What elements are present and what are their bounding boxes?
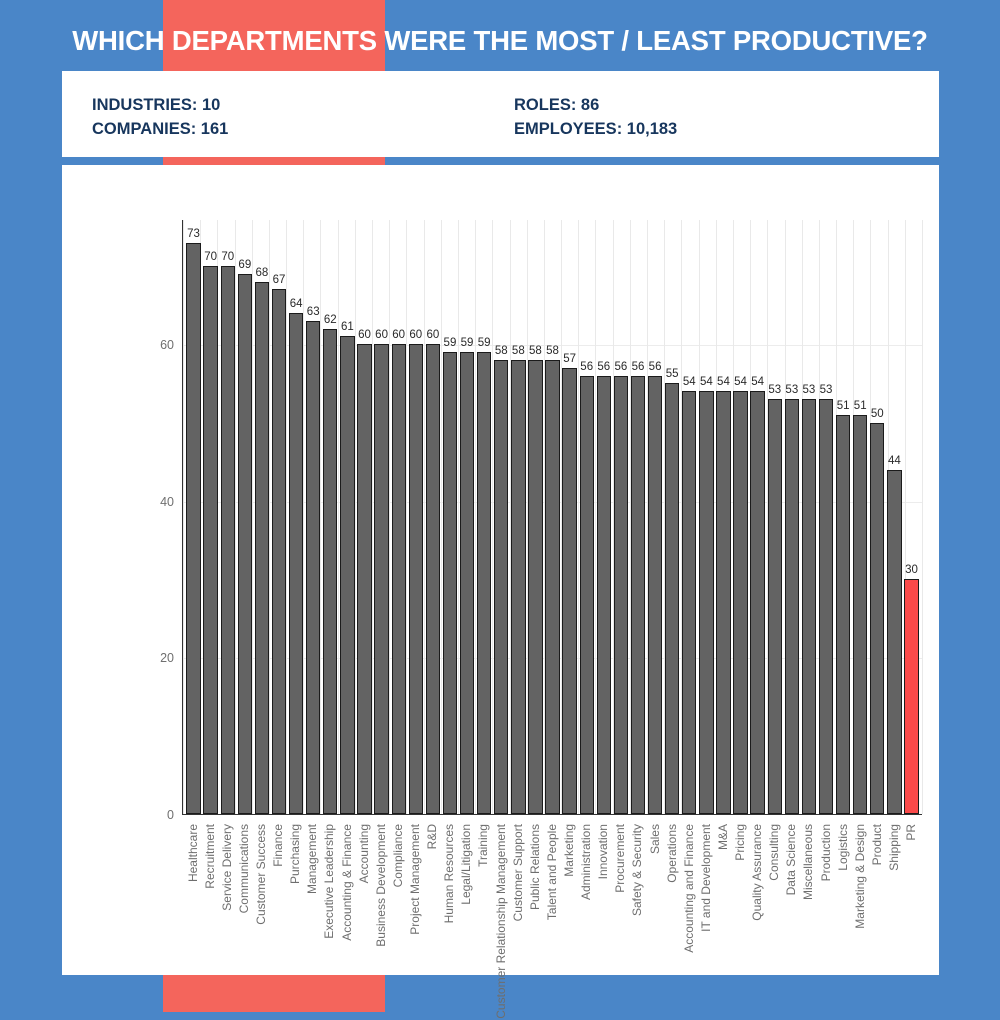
bar-value-label: 60	[409, 329, 422, 341]
bar[interactable]: 70	[221, 266, 235, 814]
x-axis-label-slot: M&A	[714, 820, 731, 1020]
title-bar: WHICH DEPARTMENTS WERE THE MOST / LEAST …	[0, 14, 1000, 68]
bar-item[interactable]: 67	[270, 220, 287, 814]
bar-item[interactable]: 56	[578, 220, 595, 814]
bar-item[interactable]: 63	[305, 220, 322, 814]
bar-item[interactable]: 62	[322, 220, 339, 814]
bar[interactable]: 53	[768, 399, 782, 814]
chart-panel: 0204060 73707069686764636261606060606059…	[62, 165, 939, 975]
x-axis-tick-label: Data Science	[784, 824, 798, 895]
x-axis-label-slot: Data Science	[783, 820, 800, 1020]
bar[interactable]: 60	[374, 344, 388, 814]
x-axis-label-slot: Public Relations	[526, 820, 543, 1020]
bar-value-label: 58	[495, 345, 508, 357]
bar[interactable]: 59	[443, 352, 457, 814]
bar[interactable]: 62	[323, 329, 337, 814]
x-axis-label-slot: Business Development	[372, 820, 389, 1020]
bar-item[interactable]: 53	[783, 220, 800, 814]
bar-value-label: 54	[700, 376, 713, 388]
bar-value-label: 56	[649, 361, 662, 373]
x-axis-tick-label: Training	[476, 824, 490, 867]
bar[interactable]: 73	[186, 243, 200, 815]
x-axis-tick-label: Consulting	[767, 824, 781, 881]
bar-value-label: 58	[546, 345, 559, 357]
bar[interactable]: 53	[819, 399, 833, 814]
bar-value-label: 60	[358, 329, 371, 341]
bar[interactable]: 54	[733, 391, 747, 814]
bar-item[interactable]: 54	[681, 220, 698, 814]
bar-item[interactable]: 60	[390, 220, 407, 814]
bar[interactable]: 58	[511, 360, 525, 814]
bar[interactable]: 69	[238, 274, 252, 814]
bar[interactable]: 50	[870, 423, 884, 814]
bar-item[interactable]: 64	[288, 220, 305, 814]
bar-value-label: 54	[734, 376, 747, 388]
stat-industries: INDUSTRIES: 10	[92, 93, 228, 117]
bar-value-label: 59	[461, 337, 474, 349]
bar-item[interactable]: 59	[459, 220, 476, 814]
x-axis-label-slot: Talent and People	[543, 820, 560, 1020]
bar-item[interactable]: 59	[441, 220, 458, 814]
x-axis-label-slot: Purchasing	[287, 820, 304, 1020]
bar[interactable]: 56	[597, 376, 611, 814]
y-axis-tick: 20	[160, 651, 174, 665]
bar-value-label: 64	[290, 298, 303, 310]
bar-item[interactable]: 58	[493, 220, 510, 814]
bar-value-label: 59	[444, 337, 457, 349]
bar-value-label: 70	[204, 251, 217, 263]
x-axis-tick-label: Shipping	[887, 824, 901, 871]
x-axis-tick-label: Business Development	[374, 824, 388, 947]
x-axis-tick-label: Customer Success	[254, 824, 268, 925]
bar[interactable]: 58	[528, 360, 542, 814]
x-axis-label-slot: Operations	[663, 820, 680, 1020]
bar[interactable]: 58	[494, 360, 508, 814]
x-axis-tick-label: Logistics	[836, 824, 850, 871]
x-axis-label-slot: R&D	[424, 820, 441, 1020]
x-axis-label-slot: Human Resources	[441, 820, 458, 1020]
bar[interactable]: 59	[477, 352, 491, 814]
bar-value-label: 60	[392, 329, 405, 341]
x-axis-tick-label: Innovation	[596, 824, 610, 879]
x-axis-label-slot: Executive Leadership	[321, 820, 338, 1020]
bar[interactable]: 57	[562, 368, 576, 814]
x-axis-label-slot: Miscellaneous	[800, 820, 817, 1020]
x-axis-tick-label: IT and Development	[699, 824, 713, 932]
bar-item[interactable]: 56	[629, 220, 646, 814]
x-axis-tick-label: Legal/Litigation	[459, 824, 473, 905]
x-axis-label-slot: Production	[817, 820, 834, 1020]
x-axis-label-slot: Accounting and Finance	[680, 820, 697, 1020]
bar-value-label: 62	[324, 314, 337, 326]
x-axis-tick-label: Executive Leadership	[322, 824, 336, 939]
bar[interactable]: 67	[272, 289, 286, 814]
bar-item[interactable]: 58	[527, 220, 544, 814]
x-axis-label-slot: Training	[475, 820, 492, 1020]
bar-value-label: 51	[837, 400, 850, 412]
x-axis-label-slot: Logistics	[834, 820, 851, 1020]
x-axis-tick-label: Finance	[271, 824, 285, 867]
x-axis-label-slot: Customer Relationship Management	[492, 820, 509, 1020]
bar-value-label: 55	[666, 368, 679, 380]
x-axis-label-slot: Innovation	[595, 820, 612, 1020]
bar-value-label: 50	[871, 408, 884, 420]
bar[interactable]: 54	[750, 391, 764, 814]
bar-item[interactable]: 53	[766, 220, 783, 814]
x-axis-tick-label: Product	[870, 824, 884, 865]
x-axis-tick-label: Accounting	[357, 824, 371, 883]
x-axis-label-slot: Customer Support	[509, 820, 526, 1020]
bar-value-label: 68	[256, 267, 269, 279]
x-axis-tick-label: Management	[305, 824, 319, 894]
bar[interactable]: 56	[631, 376, 645, 814]
x-axis-label-slot: Marketing	[560, 820, 577, 1020]
x-axis-label-slot: Communications	[235, 820, 252, 1020]
bar[interactable]: 61	[340, 336, 354, 814]
bar-item[interactable]: 51	[835, 220, 852, 814]
x-axis-label-slot: Quality Assurance	[749, 820, 766, 1020]
x-axis-tick-label: Communications	[237, 824, 251, 913]
x-axis-label-slot: Service Delivery	[218, 820, 235, 1020]
bar-value-label: 53	[820, 384, 833, 396]
bar-item[interactable]: 70	[202, 220, 219, 814]
bar-item[interactable]: 56	[612, 220, 629, 814]
x-axis-label-slot: Accounting	[355, 820, 372, 1020]
bar[interactable]: 60	[392, 344, 406, 814]
bar-value-label: 67	[273, 274, 286, 286]
bar-item[interactable]: 68	[253, 220, 270, 814]
stats-panel: INDUSTRIES: 10 COMPANIES: 161 ROLES: 86 …	[62, 71, 939, 157]
x-axis-tick-label: Purchasing	[288, 824, 302, 884]
bar[interactable]: 53	[802, 399, 816, 814]
x-axis-label-slot: PR	[903, 820, 920, 1020]
bar-value-label: 44	[888, 455, 901, 467]
x-axis-label-slot: Finance	[270, 820, 287, 1020]
bar[interactable]: 63	[306, 321, 320, 814]
bar[interactable]: 56	[614, 376, 628, 814]
bar-value-label: 56	[632, 361, 645, 373]
bar-item[interactable]: 54	[715, 220, 732, 814]
bar-value-label: 61	[341, 321, 354, 333]
x-axis-tick-label: Marketing	[562, 824, 576, 877]
page-title: WHICH DEPARTMENTS WERE THE MOST / LEAST …	[72, 25, 928, 57]
bar[interactable]: 70	[203, 266, 217, 814]
x-axis-label-slot: Pricing	[732, 820, 749, 1020]
bar[interactable]: 60	[426, 344, 440, 814]
bar[interactable]: 54	[699, 391, 713, 814]
plot-inner: 7370706968676463626160606060605959595858…	[182, 220, 922, 815]
bar-item[interactable]: 55	[664, 220, 681, 814]
x-axis: HealthcareRecruitmentService DeliveryCom…	[182, 820, 922, 1020]
x-axis-label-slot: Accounting & Finance	[338, 820, 355, 1020]
x-axis-label-slot: Product	[868, 820, 885, 1020]
x-axis-label-slot: Shipping	[885, 820, 902, 1020]
x-axis-tick-label: Healthcare	[186, 824, 200, 882]
bar-value-label: 54	[683, 376, 696, 388]
y-axis-tick: 60	[160, 338, 174, 352]
x-axis-tick-label: Service Delivery	[220, 824, 234, 911]
bar[interactable]: 68	[255, 282, 269, 814]
bar-item[interactable]: 60	[356, 220, 373, 814]
bar-item[interactable]: 58	[544, 220, 561, 814]
x-axis-label-slot: Consulting	[766, 820, 783, 1020]
x-axis-tick-label: Production	[819, 824, 833, 881]
bar-value-label: 60	[426, 329, 439, 341]
bar-value-label: 60	[375, 329, 388, 341]
bar[interactable]: 44	[887, 470, 901, 814]
bar-item[interactable]: 60	[407, 220, 424, 814]
x-axis-tick-label: Operations	[665, 824, 679, 883]
bar[interactable]: 54	[716, 391, 730, 814]
bar-item[interactable]: 70	[219, 220, 236, 814]
x-axis-tick-label: Quality Assurance	[750, 824, 764, 921]
bar[interactable]: 60	[409, 344, 423, 814]
bar-value-label: 30	[905, 564, 918, 576]
stats-column-right: ROLES: 86 EMPLOYEES: 10,183	[514, 93, 677, 141]
x-axis-label-slot: Compliance	[389, 820, 406, 1020]
bar-value-label: 57	[563, 353, 576, 365]
x-axis-label-slot: Recruitment	[201, 820, 218, 1020]
x-axis-label-slot: Marketing & Design	[851, 820, 868, 1020]
bar-value-label: 58	[512, 345, 525, 357]
bar-value-label: 56	[580, 361, 593, 373]
stat-employees: EMPLOYEES: 10,183	[514, 117, 677, 141]
bar-value-label: 58	[529, 345, 542, 357]
bar-value-label: 53	[768, 384, 781, 396]
x-axis-tick-label: Safety & Security	[630, 824, 644, 916]
bar[interactable]: 55	[665, 383, 679, 814]
x-axis-label-slot: Administration	[578, 820, 595, 1020]
x-axis-tick-label: Accounting and Finance	[682, 824, 696, 953]
bar-item[interactable]: 50	[869, 220, 886, 814]
bar-item[interactable]: 57	[561, 220, 578, 814]
plot-area: 0204060 73707069686764636261606060606059…	[122, 220, 922, 815]
bar-item[interactable]: 56	[647, 220, 664, 814]
bar-value-label: 69	[238, 259, 251, 271]
bar-item[interactable]: 73	[185, 220, 202, 814]
x-axis-tick-label: Pricing	[733, 824, 747, 861]
bar-value-label: 70	[221, 251, 234, 263]
bar-item[interactable]: 69	[236, 220, 253, 814]
stat-roles: ROLES: 86	[514, 93, 677, 117]
bar-value-label: 56	[597, 361, 610, 373]
x-axis-tick-label: Customer Support	[511, 824, 525, 921]
x-axis-tick-label: Talent and People	[545, 824, 559, 920]
x-axis-tick-label: R&D	[425, 824, 439, 849]
bar-value-label: 53	[785, 384, 798, 396]
x-axis-label-slot: Management	[304, 820, 321, 1020]
bar-item[interactable]: 56	[595, 220, 612, 814]
x-axis-label-slot: Project Management	[406, 820, 423, 1020]
bar-series: 7370706968676463626160606060605959595858…	[183, 220, 922, 814]
bar-item[interactable]: 44	[886, 220, 903, 814]
bar-value-label: 59	[478, 337, 491, 349]
bar-highlighted[interactable]: 30	[904, 579, 918, 814]
bar-item[interactable]: 30	[903, 220, 920, 814]
bar-item[interactable]: 60	[424, 220, 441, 814]
stat-companies: COMPANIES: 161	[92, 117, 228, 141]
x-axis-tick-label: Project Management	[408, 824, 422, 935]
x-axis-label-slot: Sales	[646, 820, 663, 1020]
bar-item[interactable]: 53	[800, 220, 817, 814]
bar-item[interactable]: 59	[476, 220, 493, 814]
x-axis-tick-label: Miscellaneous	[801, 824, 815, 900]
x-axis-tick-label: Compliance	[391, 824, 405, 887]
x-axis-tick-label: Human Resources	[442, 824, 456, 923]
bar-item[interactable]: 58	[510, 220, 527, 814]
x-axis-tick-label: Marketing & Design	[853, 824, 867, 929]
bar[interactable]: 54	[682, 391, 696, 814]
bar-value-label: 73	[187, 228, 200, 240]
bar[interactable]: 53	[785, 399, 799, 814]
x-axis-tick-label: Accounting & Finance	[340, 824, 354, 941]
gridline-vertical	[922, 220, 923, 814]
bar-value-label: 51	[854, 400, 867, 412]
bar-item[interactable]: 51	[852, 220, 869, 814]
x-axis-tick-label: Procurement	[613, 824, 627, 893]
x-axis-label-slot: Procurement	[612, 820, 629, 1020]
bar[interactable]: 64	[289, 313, 303, 814]
y-axis-tick: 0	[167, 808, 174, 822]
x-axis-tick-label: PR	[904, 824, 918, 841]
bar-value-label: 54	[717, 376, 730, 388]
x-axis-tick-label: Public Relations	[528, 824, 542, 910]
bar-item[interactable]: 53	[817, 220, 834, 814]
bar-item[interactable]: 61	[339, 220, 356, 814]
x-axis-tick-label: Recruitment	[203, 824, 217, 889]
bar-item[interactable]: 54	[732, 220, 749, 814]
bar[interactable]: 56	[648, 376, 662, 814]
bar[interactable]: 58	[545, 360, 559, 814]
x-axis-tick-label: Sales	[648, 824, 662, 854]
x-axis-label-slot: Legal/Litigation	[458, 820, 475, 1020]
y-axis-tick: 40	[160, 495, 174, 509]
infographic-canvas: WHICH DEPARTMENTS WERE THE MOST / LEAST …	[0, 0, 1000, 1012]
bar[interactable]: 59	[460, 352, 474, 814]
bar-item[interactable]: 60	[373, 220, 390, 814]
x-axis-label-slot: Safety & Security	[629, 820, 646, 1020]
bar[interactable]: 56	[580, 376, 594, 814]
x-axis-label-slot: Customer Success	[252, 820, 269, 1020]
x-axis-tick-label: M&A	[716, 824, 730, 850]
bar[interactable]: 60	[357, 344, 371, 814]
bar-item[interactable]: 54	[749, 220, 766, 814]
bar-value-label: 56	[614, 361, 627, 373]
y-axis: 0204060	[122, 220, 182, 815]
x-axis-label-slot: IT and Development	[697, 820, 714, 1020]
bar-value-label: 63	[307, 306, 320, 318]
x-axis-tick-label: Administration	[579, 824, 593, 900]
stats-column-left: INDUSTRIES: 10 COMPANIES: 161	[92, 93, 228, 141]
x-axis-tick-label: Customer Relationship Management	[494, 824, 508, 1019]
bar-item[interactable]: 54	[698, 220, 715, 814]
bar-value-label: 54	[751, 376, 764, 388]
bar[interactable]: 51	[836, 415, 850, 814]
bar[interactable]: 51	[853, 415, 867, 814]
x-axis-label-slot: Healthcare	[184, 820, 201, 1020]
bar-value-label: 53	[803, 384, 816, 396]
